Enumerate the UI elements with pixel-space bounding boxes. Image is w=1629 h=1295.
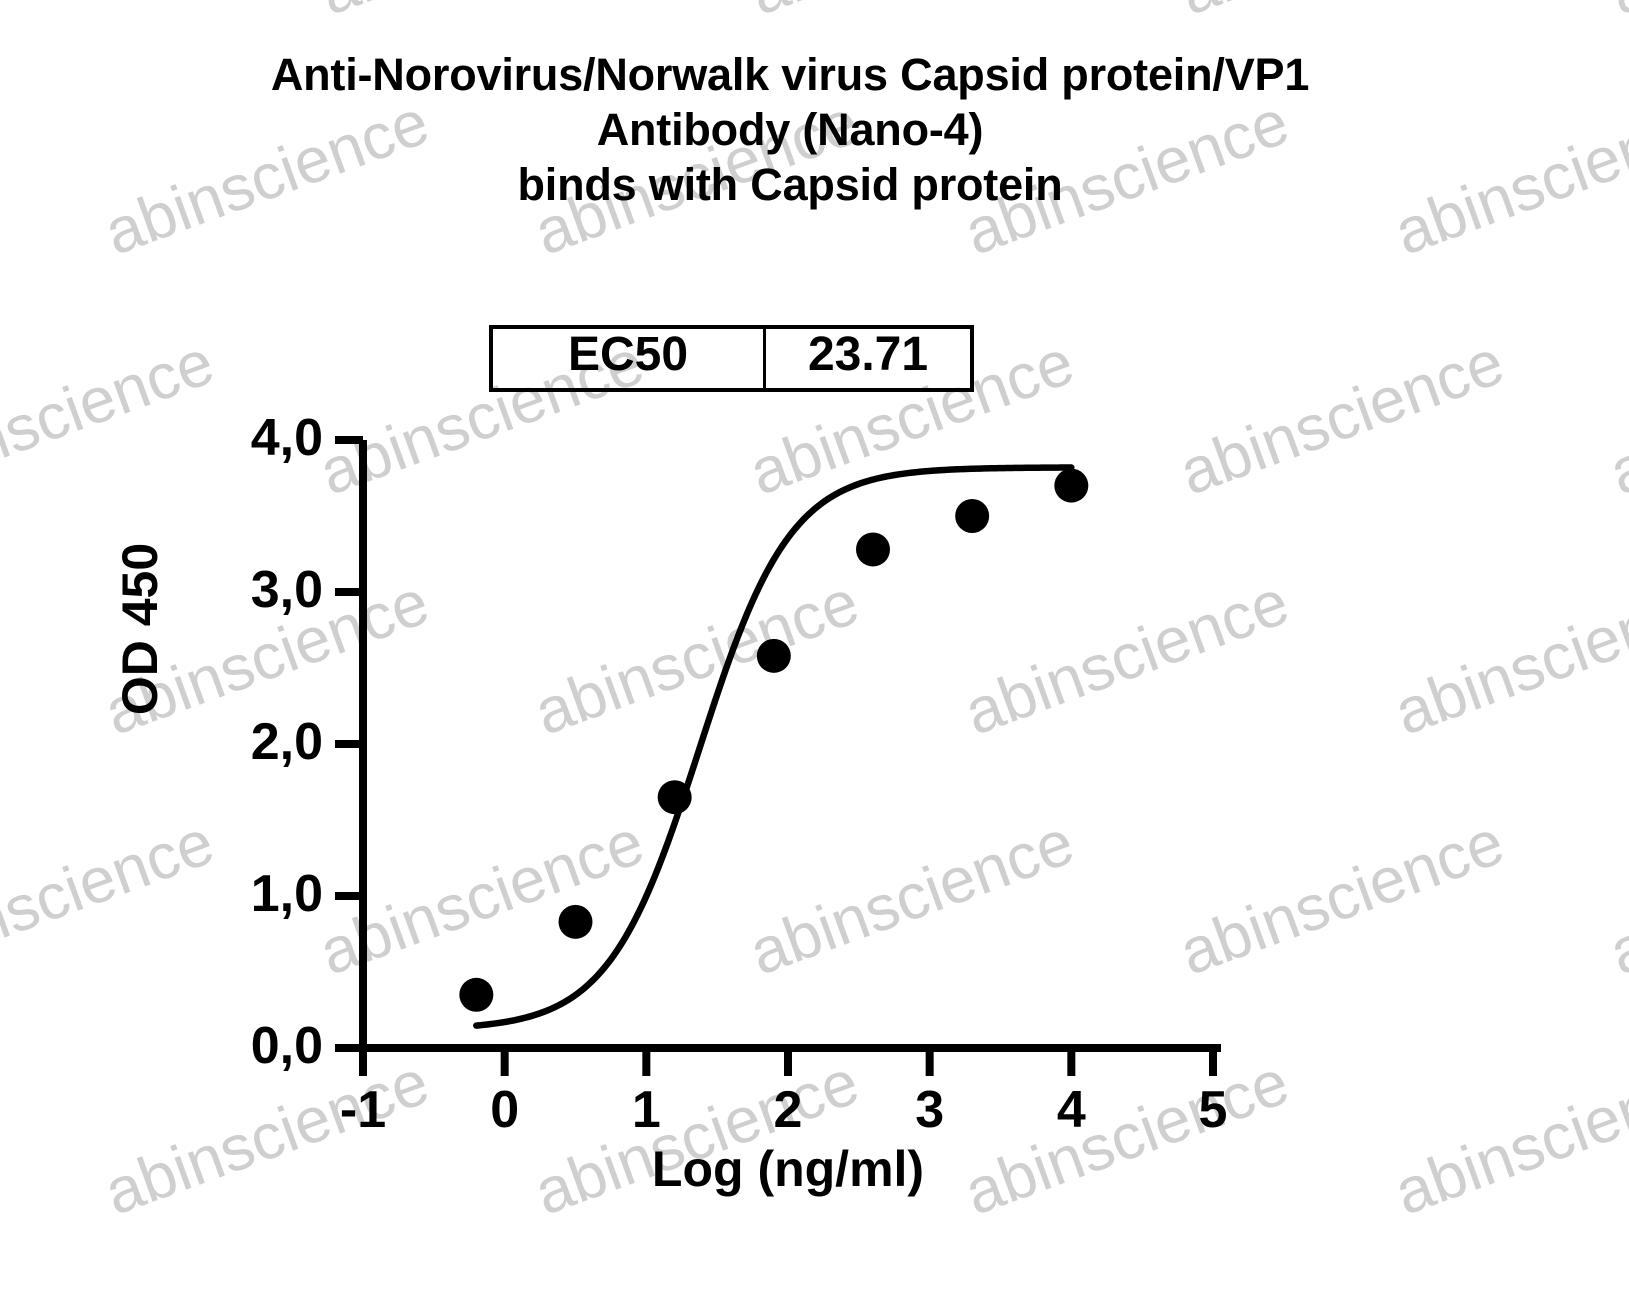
x-tick-label: 4: [1026, 1084, 1116, 1136]
y-tick-label: 1,0: [183, 868, 323, 920]
data-point-marker: [757, 639, 791, 673]
data-point-marker: [658, 780, 692, 814]
data-point-marker: [559, 905, 593, 939]
y-axis-title: OD 450: [111, 479, 169, 779]
x-tick-label: 5: [1168, 1084, 1258, 1136]
data-point-marker: [459, 978, 493, 1012]
x-tick-label: 3: [885, 1084, 975, 1136]
y-tick-label: 0,0: [183, 1020, 323, 1072]
data-point-marker: [955, 499, 989, 533]
plot-area: OD 450 Log (ng/ml) -10123450,01,02,03,04…: [0, 0, 1629, 1295]
chart-figure: Anti-Norovirus/Norwalk virus Capsid prot…: [0, 0, 1629, 1295]
y-tick-label: 2,0: [183, 716, 323, 768]
y-tick-label: 3,0: [183, 564, 323, 616]
x-axis-title: Log (ng/ml): [363, 1140, 1213, 1198]
data-point-marker: [856, 532, 890, 566]
y-tick-label: 4,0: [183, 412, 323, 464]
x-tick-label: -1: [318, 1084, 408, 1136]
fit-curve: [476, 468, 1071, 1026]
x-tick-label: 0: [460, 1084, 550, 1136]
x-tick-label: 2: [743, 1084, 833, 1136]
x-tick-label: 1: [601, 1084, 691, 1136]
data-point-marker: [1054, 469, 1088, 503]
